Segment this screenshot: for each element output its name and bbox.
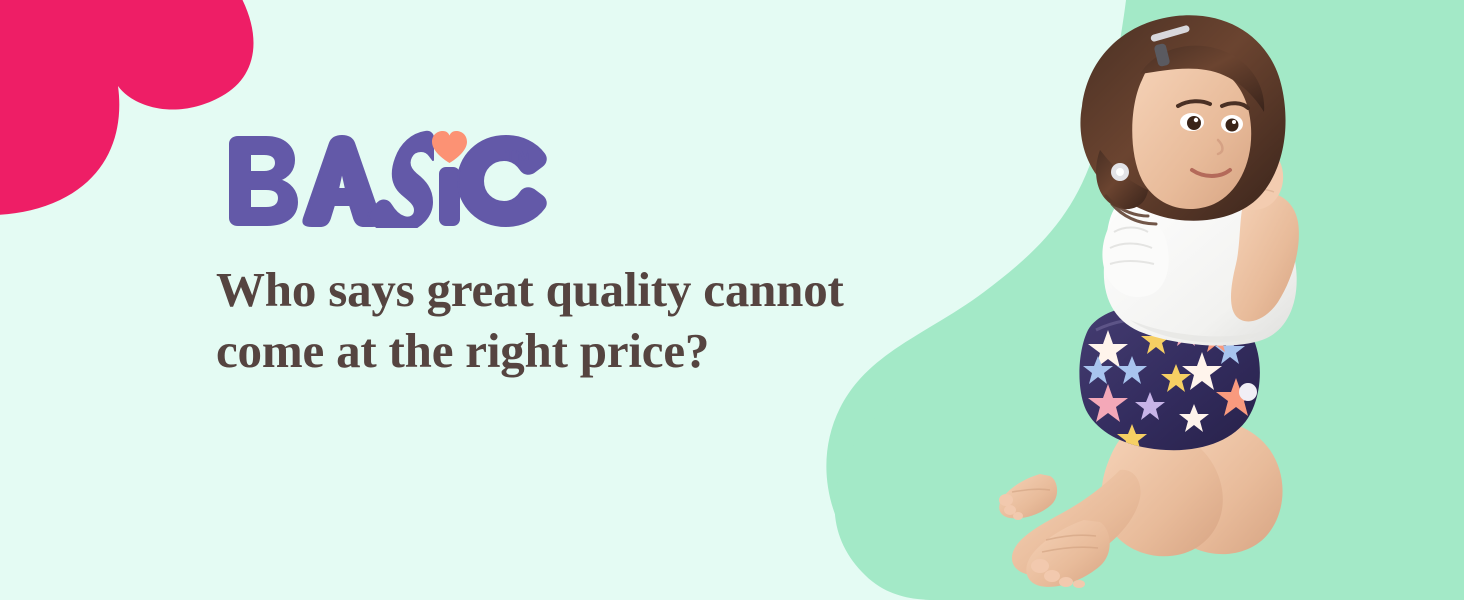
child-product-photo: [980, 0, 1464, 600]
heart-icon: [432, 131, 467, 163]
promo-banner: TM Who says great quality cannot come at…: [0, 0, 1464, 600]
basic-wordmark: [222, 128, 552, 228]
child-head: [1080, 15, 1285, 224]
trademark-symbol: TM: [505, 146, 533, 166]
diaper-snap-button: [1239, 383, 1257, 401]
brand-logo: [222, 128, 552, 228]
headline-text: Who says great quality cannot come at th…: [216, 260, 856, 382]
